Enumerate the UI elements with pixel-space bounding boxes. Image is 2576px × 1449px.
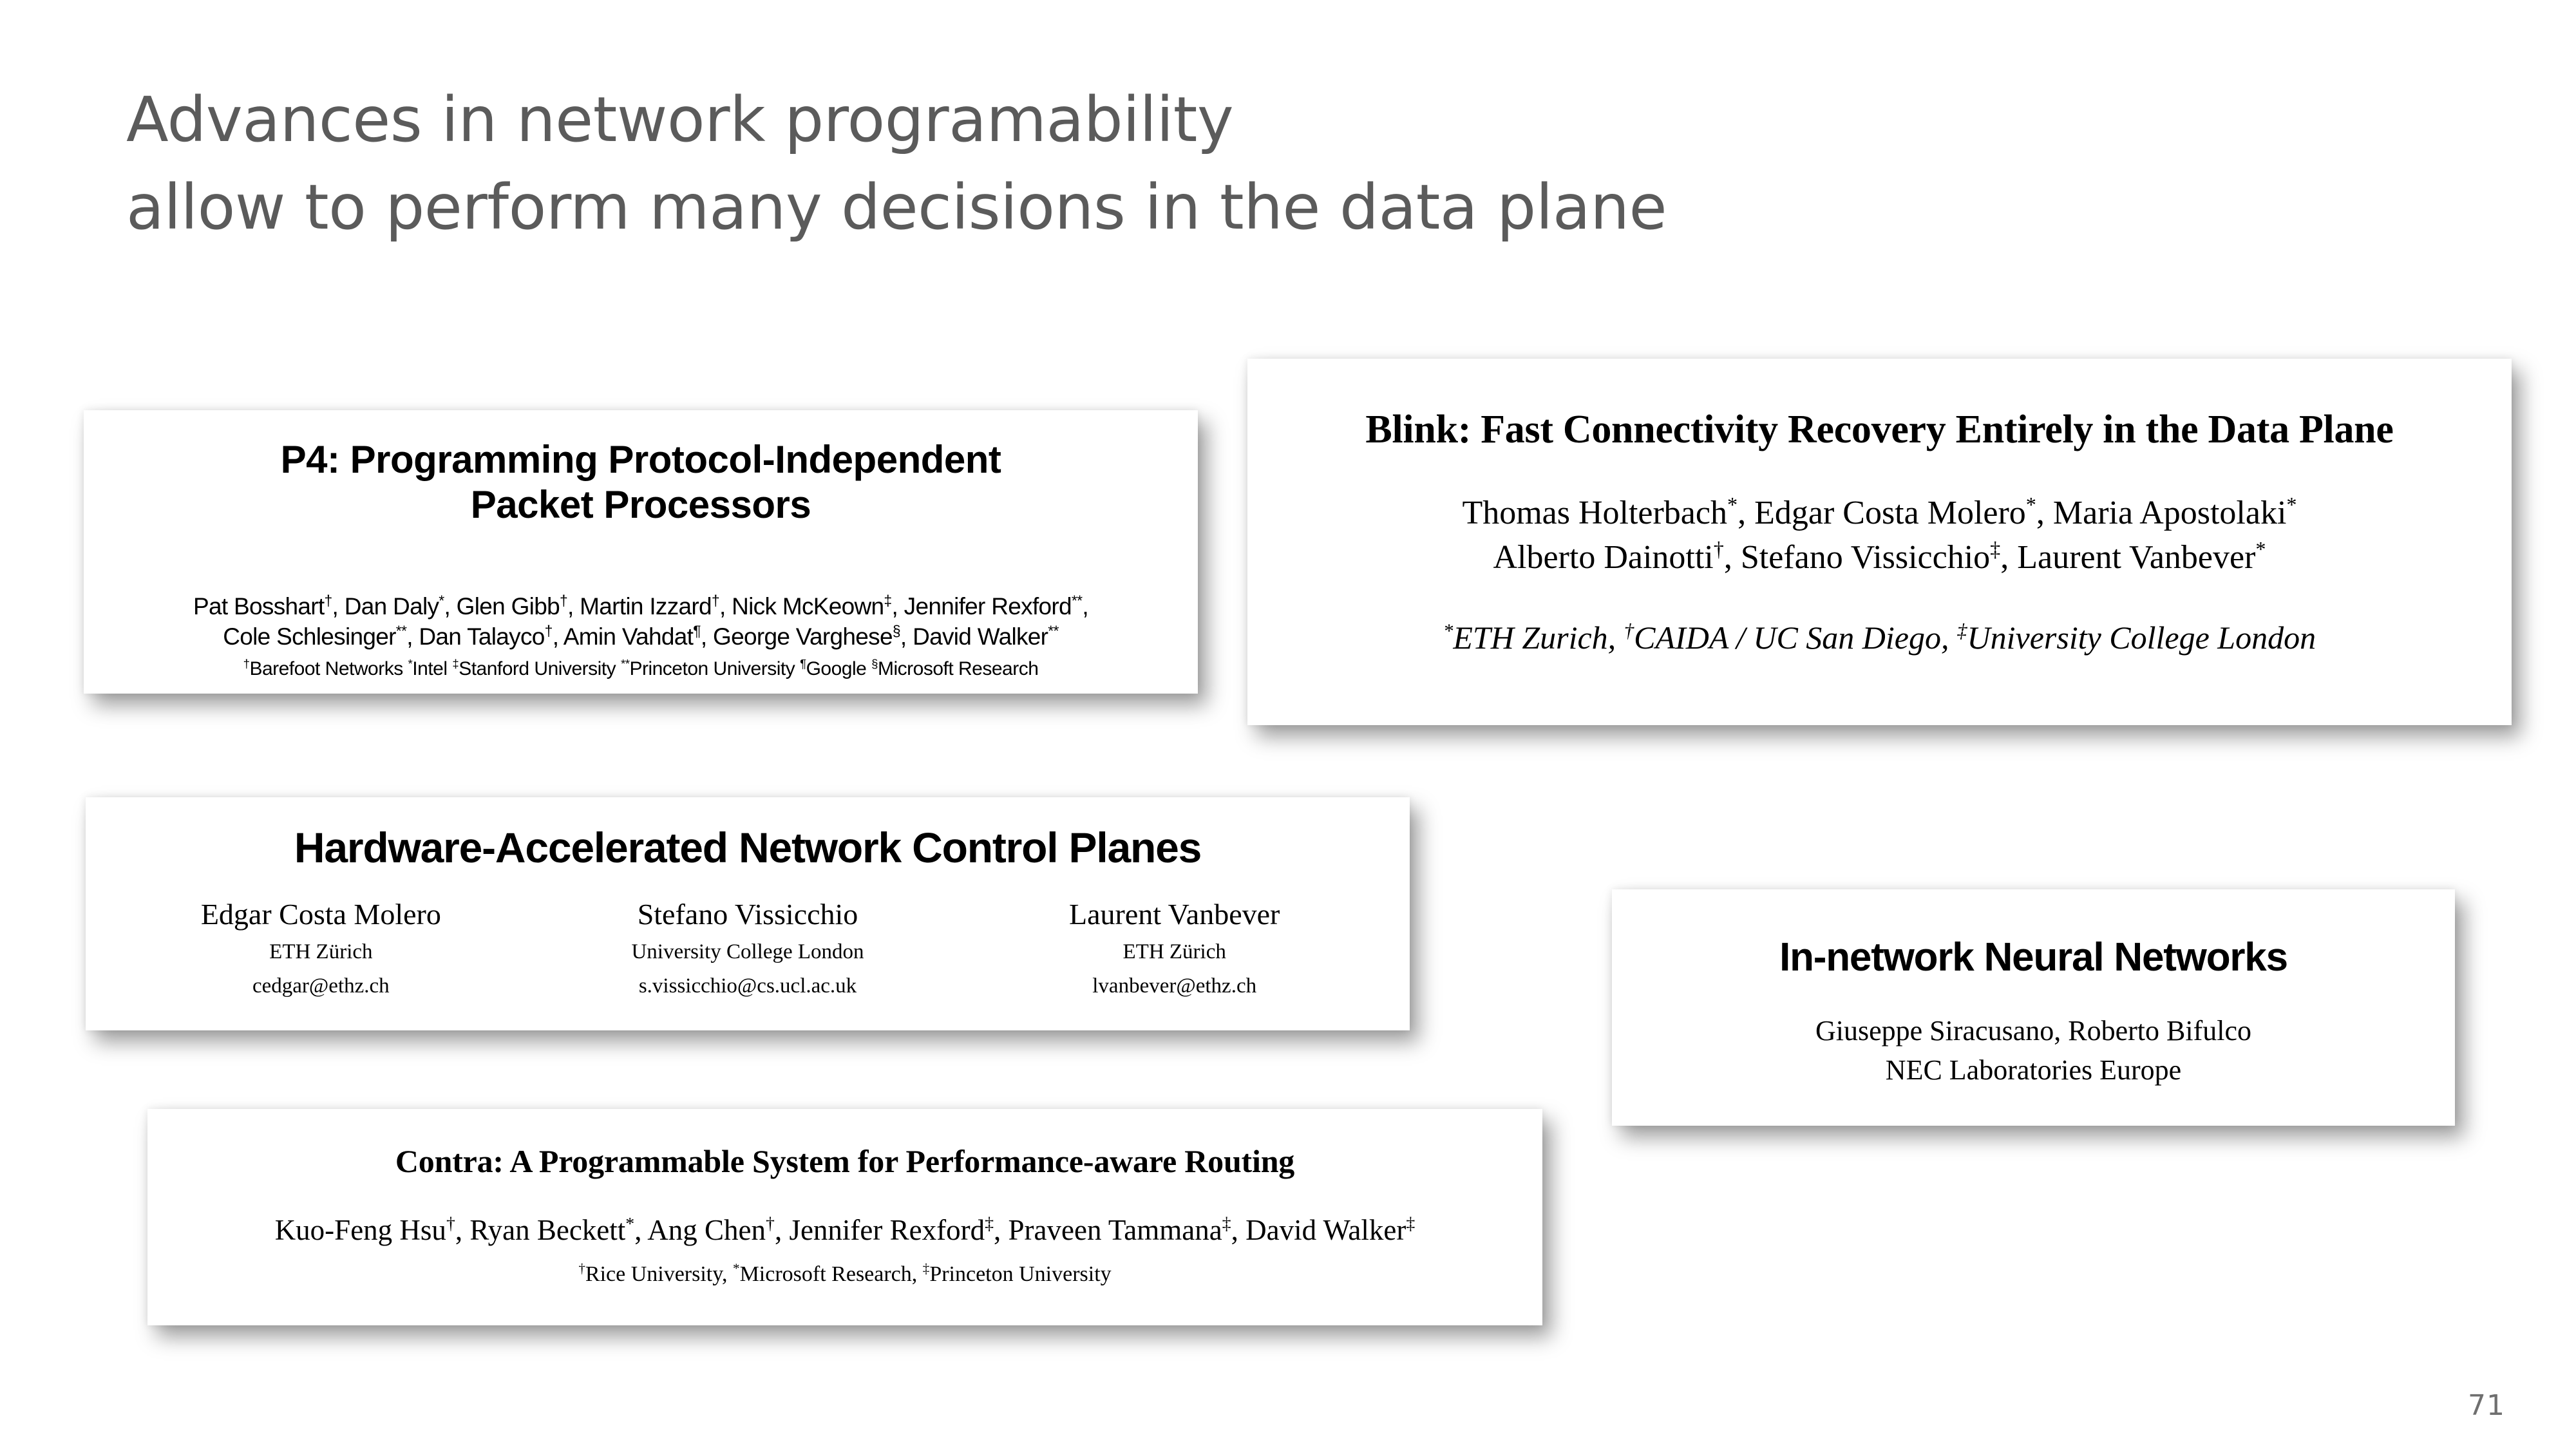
author-column: Laurent Vanbever ETH Zürich lvanbever@et… <box>961 897 1388 999</box>
author-name: Stefano Vissicchio <box>535 897 961 932</box>
author-column: Stefano Vissicchio University College Lo… <box>535 897 961 999</box>
paper-card-in-network-neural-networks[interactable]: In-network Neural Networks Giuseppe Sira… <box>1612 889 2455 1126</box>
paper-title-blink: Blink: Fast Connectivity Recovery Entire… <box>1247 408 2512 451</box>
author-column: Edgar Costa Molero ETH Zürich cedgar@eth… <box>108 897 535 999</box>
author-name: Edgar Costa Molero <box>108 897 535 932</box>
paper-affiliations-blink: *ETH Zurich, †CAIDA / UC San Diego, ‡Uni… <box>1247 618 2512 657</box>
paper-affiliations-contra: †Rice University, *Microsoft Research, ‡… <box>147 1262 1542 1288</box>
paper-affiliations-p4: †Barefoot Networks *Intel ‡Stanford Univ… <box>84 656 1198 681</box>
slide-page-number: 71 <box>2468 1389 2505 1422</box>
paper-card-contra[interactable]: Contra: A Programmable System for Perfor… <box>147 1109 1542 1325</box>
page-title: Advances in network programability allow… <box>126 76 2316 252</box>
author-affiliation: ETH Zürich <box>108 940 535 965</box>
paper-title-hardware-accelerated: Hardware-Accelerated Network Control Pla… <box>86 824 1410 871</box>
author-email: cedgar@ethz.ch <box>108 974 535 999</box>
paper-title-p4: P4: Programming Protocol-Independent Pac… <box>84 437 1198 527</box>
author-name: Laurent Vanbever <box>961 897 1388 932</box>
author-email: lvanbever@ethz.ch <box>961 974 1388 999</box>
author-affiliation: ETH Zürich <box>961 940 1388 965</box>
paper-title-in-network-neural-networks: In-network Neural Networks <box>1612 936 2455 980</box>
paper-authors-contra: Kuo-Feng Hsu†, Ryan Beckett*, Ang Chen†,… <box>147 1213 1542 1247</box>
paper-card-p4[interactable]: P4: Programming Protocol-Independent Pac… <box>84 410 1198 694</box>
paper-authors-p4: Pat Bosshart†, Dan Daly*, Glen Gibb†, Ma… <box>84 592 1198 652</box>
paper-card-hardware-accelerated[interactable]: Hardware-Accelerated Network Control Pla… <box>86 797 1410 1030</box>
paper-authors-blink: Thomas Holterbach*, Edgar Costa Molero*,… <box>1247 491 2512 580</box>
paper-authors-in-network-neural-networks: Giuseppe Siracusano, Roberto Bifulco NEC… <box>1612 1012 2455 1090</box>
author-email: s.vissicchio@cs.ucl.ac.uk <box>535 974 961 999</box>
paper-card-blink[interactable]: Blink: Fast Connectivity Recovery Entire… <box>1247 359 2512 725</box>
author-affiliation: University College London <box>535 940 961 965</box>
paper-title-contra: Contra: A Programmable System for Perfor… <box>147 1144 1542 1179</box>
author-columns: Edgar Costa Molero ETH Zürich cedgar@eth… <box>86 897 1410 999</box>
